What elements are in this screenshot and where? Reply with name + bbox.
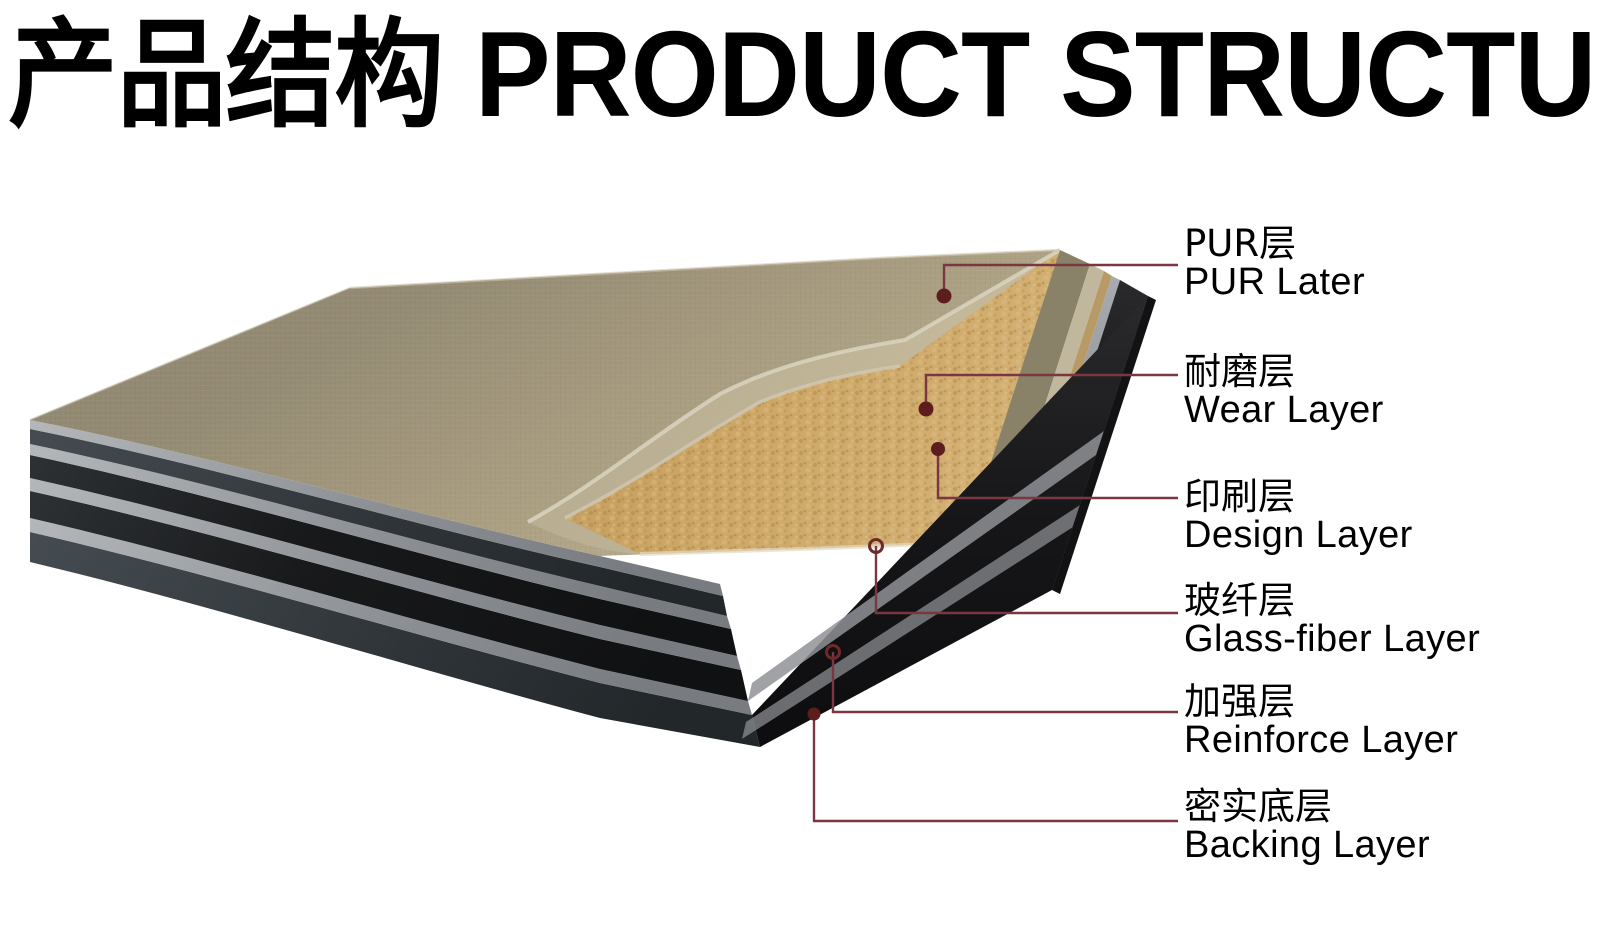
label-glass-fiber-chinese: 玻纤层 <box>1184 582 1480 620</box>
leader-dot-design <box>931 442 945 456</box>
label-wear: 耐磨层 Wear Layer <box>1184 353 1384 431</box>
label-design-english: Design Layer <box>1184 516 1413 556</box>
label-pur-chinese: PUR层 <box>1184 225 1365 263</box>
page-title-chinese: 产品结构 <box>8 6 443 144</box>
page-title-english: PRODUCT STRUCTURE <box>475 6 1598 142</box>
product-structure-page: 产品结构PRODUCT STRUCTURE <box>0 0 1598 925</box>
label-wear-chinese: 耐磨层 <box>1184 353 1384 391</box>
label-wear-english: Wear Layer <box>1184 391 1384 431</box>
label-reinforce: 加强层 Reinforce Layer <box>1184 683 1458 761</box>
label-glass-fiber-english: Glass-fiber Layer <box>1184 620 1480 660</box>
label-glass-fiber: 玻纤层 Glass-fiber Layer <box>1184 582 1480 660</box>
label-pur-english: PUR Later <box>1184 263 1365 303</box>
label-design-chinese: 印刷层 <box>1184 478 1413 516</box>
leader-line-backing <box>814 714 1178 821</box>
leader-dot-wear <box>919 402 934 417</box>
page-title: 产品结构PRODUCT STRUCTURE <box>8 0 1598 154</box>
label-backing: 密实底层 Backing Layer <box>1184 788 1430 866</box>
label-backing-english: Backing Layer <box>1184 826 1430 866</box>
leader-dot-backing <box>808 708 821 721</box>
label-backing-chinese: 密实底层 <box>1184 788 1430 826</box>
layer-labels: PUR层 PUR Later 耐磨层 Wear Layer 印刷层 Design… <box>1178 190 1598 890</box>
label-reinforce-chinese: 加强层 <box>1184 683 1458 721</box>
product-illustration <box>0 150 1180 880</box>
label-design: 印刷层 Design Layer <box>1184 478 1413 556</box>
label-reinforce-english: Reinforce Layer <box>1184 721 1458 761</box>
label-pur: PUR层 PUR Later <box>1184 225 1365 303</box>
leader-dot-pur <box>937 289 952 304</box>
